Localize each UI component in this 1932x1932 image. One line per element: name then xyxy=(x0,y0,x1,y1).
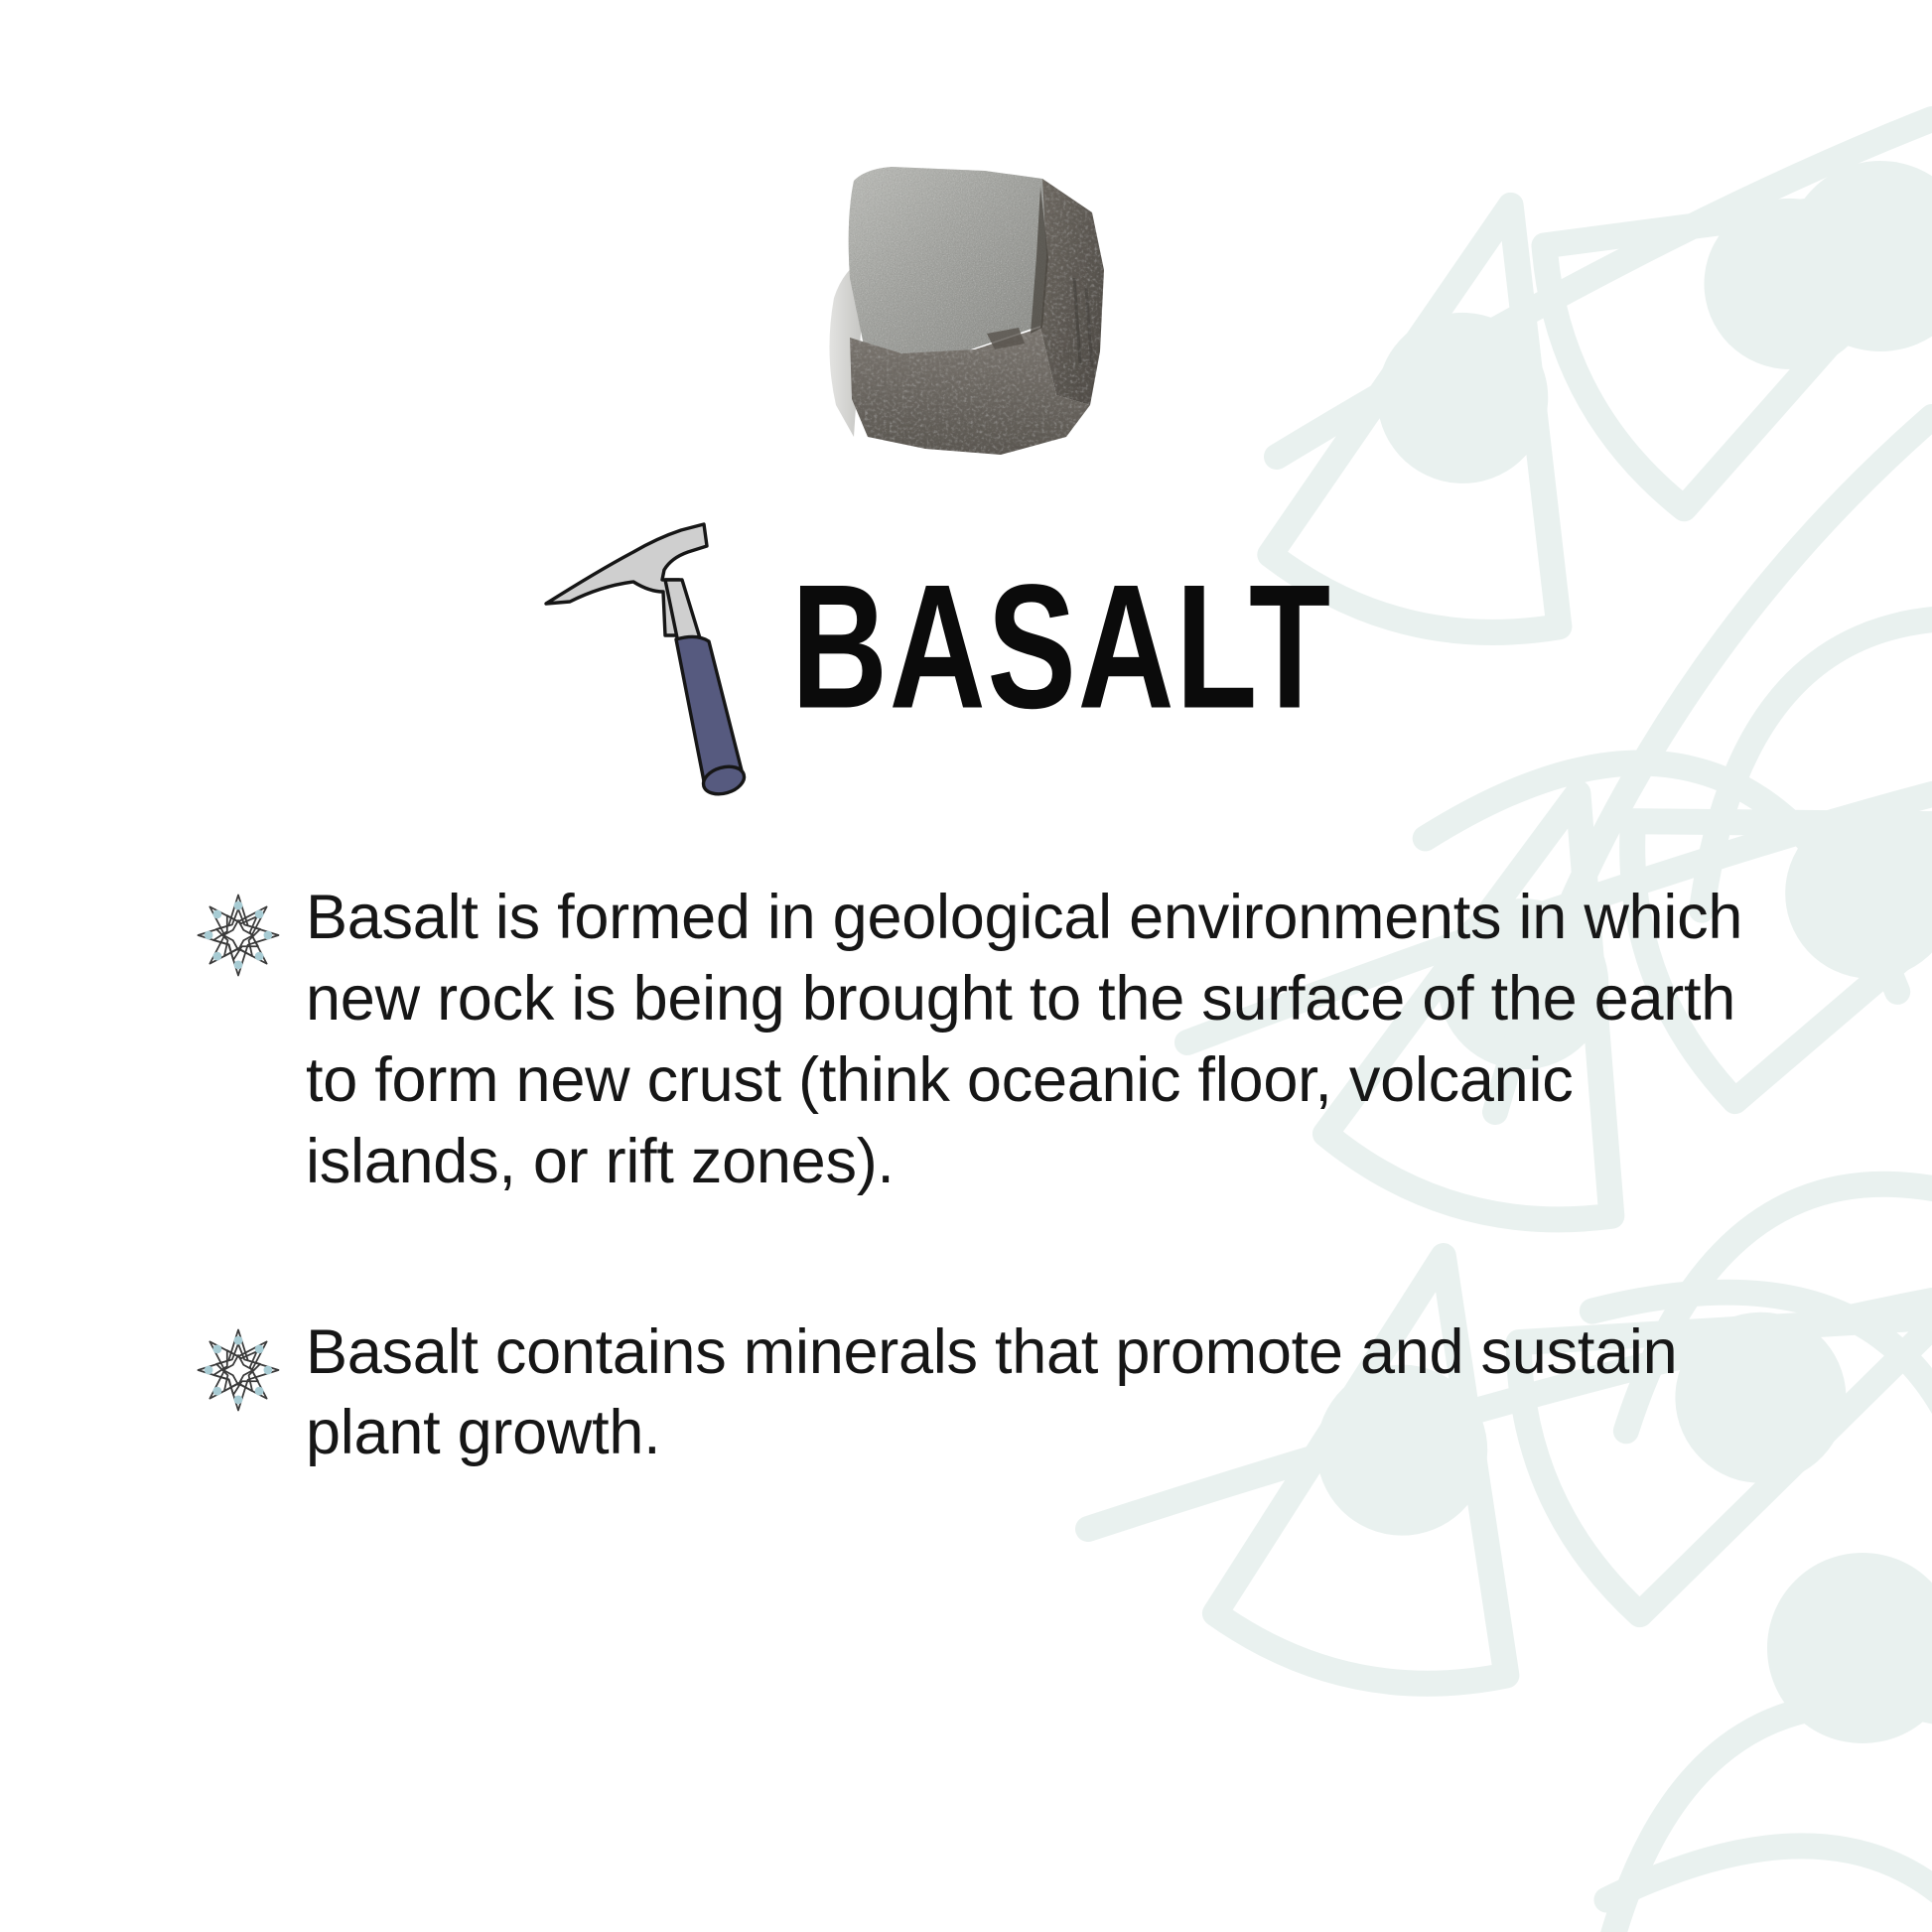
rock-hammer-icon xyxy=(530,508,778,806)
list-item: Basalt contains minerals that promote an… xyxy=(195,1312,1743,1475)
page-title: BASALT xyxy=(791,558,1332,735)
list-item-text: Basalt contains minerals that promote an… xyxy=(306,1312,1743,1475)
bullet-list: Basalt is formed in geological environme… xyxy=(195,878,1743,1584)
slide-canvas: BASALT xyxy=(0,0,1932,1932)
list-item: Basalt is formed in geological environme… xyxy=(195,878,1743,1203)
list-item-text: Basalt is formed in geological environme… xyxy=(306,878,1743,1203)
basalt-rock-image xyxy=(806,139,1156,482)
eight-point-star-mandala-icon xyxy=(195,892,282,979)
eight-point-star-mandala-icon xyxy=(195,1326,282,1414)
